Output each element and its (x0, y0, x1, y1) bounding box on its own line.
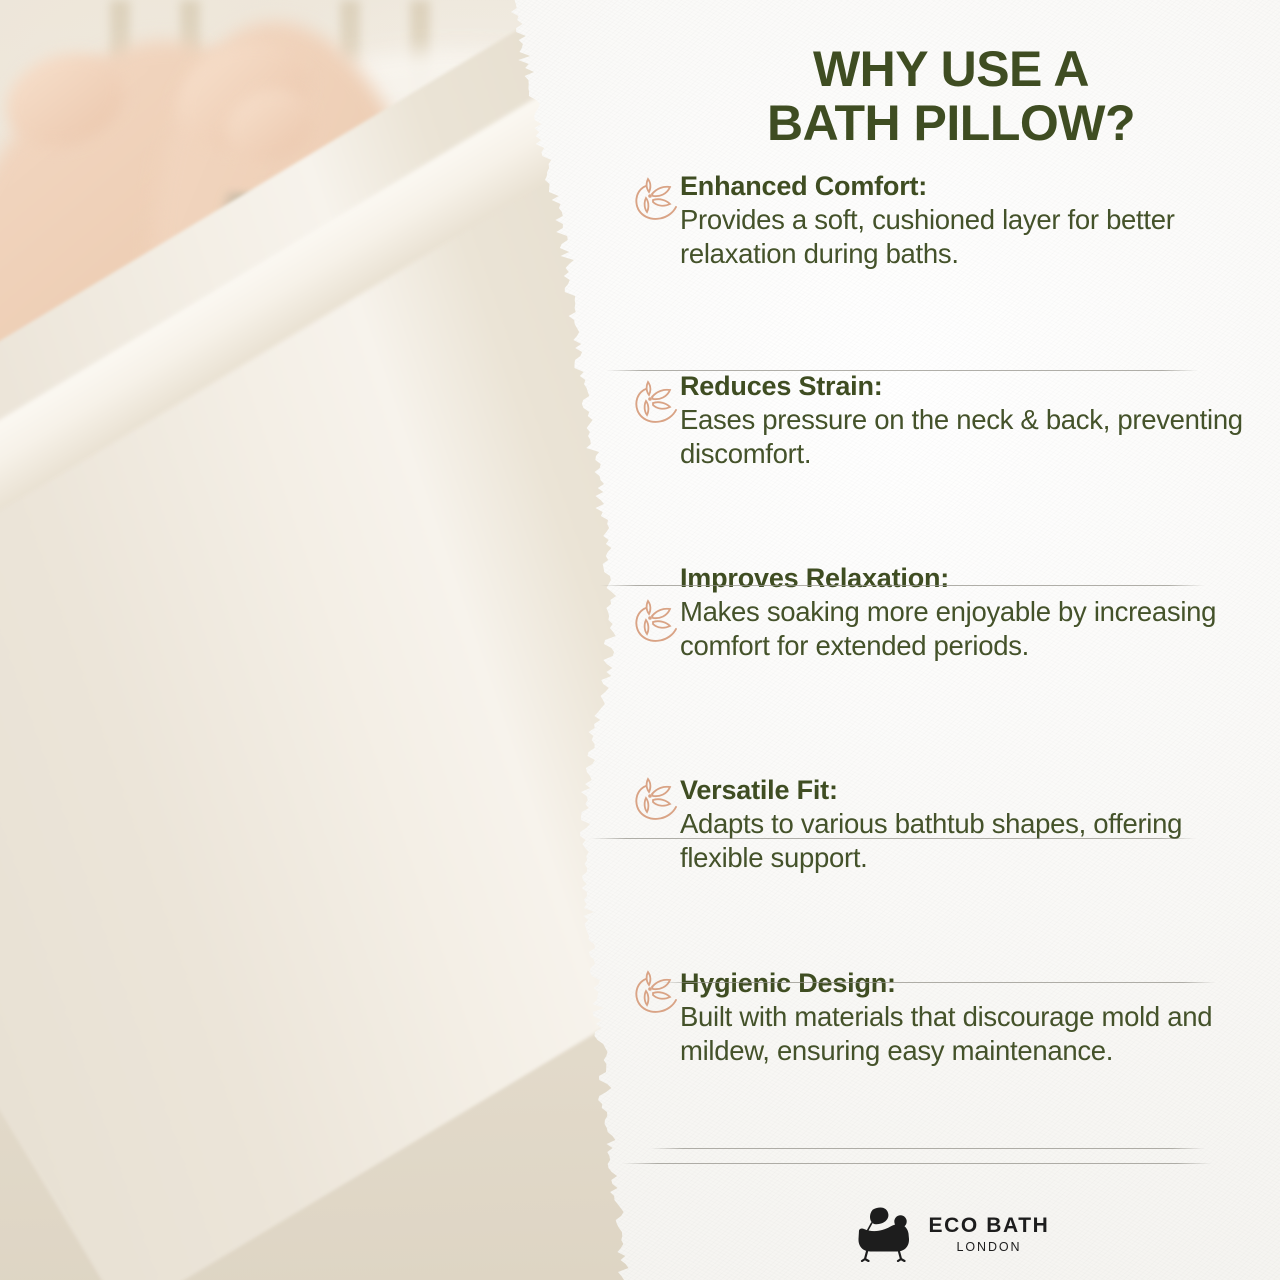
benefit-description: Eases pressure on the neck & back, preve… (680, 403, 1256, 471)
benefit-description: Adapts to various bathtub shapes, offeri… (680, 807, 1256, 875)
sprout-icon (630, 967, 682, 1019)
infographic-root: WHY USE A BATH PILLOW? Enhanced Comfort:… (0, 0, 1280, 1280)
benefit-description: Built with materials that discourage mol… (680, 1000, 1256, 1068)
section-divider (660, 982, 1216, 983)
sprout-bullet-icon (630, 596, 682, 648)
page-title: WHY USE A BATH PILLOW? (622, 42, 1280, 150)
benefit-title: Enhanced Comfort: (680, 170, 1256, 203)
brand-logo-text: ECO BATH LONDON (929, 1215, 1050, 1254)
sprout-icon (630, 174, 682, 226)
page-title-line-1: WHY USE A (813, 41, 1089, 97)
brand-logo: ECO BATH LONDON (622, 1206, 1280, 1262)
sprout-icon (630, 596, 682, 648)
benefit-description: Makes soaking more enjoyable by increasi… (680, 595, 1256, 663)
sprout-bullet-icon (630, 967, 682, 1019)
brand-subname: LONDON (957, 1241, 1022, 1254)
benefit-title: Improves Relaxation: (680, 562, 1256, 595)
page-title-line-2: BATH PILLOW? (648, 96, 1254, 150)
sprout-icon (630, 774, 682, 826)
benefit-item: Reduces Strain:Eases pressure on the nec… (622, 370, 1280, 471)
benefit-title: Reduces Strain: (680, 370, 1256, 403)
bathtub-leaf-icon (853, 1206, 915, 1262)
benefit-item: Enhanced Comfort:Provides a soft, cushio… (622, 170, 1280, 271)
benefits-content: WHY USE A BATH PILLOW? Enhanced Comfort:… (622, 0, 1280, 1280)
section-divider (590, 838, 1196, 839)
benefit-description: Provides a soft, cushioned layer for bet… (680, 203, 1256, 271)
sprout-icon (630, 377, 682, 429)
sprout-bullet-icon (630, 774, 682, 826)
benefit-title: Hygienic Design: (680, 967, 1256, 1000)
section-divider (600, 585, 1205, 586)
section-divider (622, 1163, 1212, 1164)
section-divider (606, 370, 1198, 371)
sprout-bullet-icon (630, 174, 682, 226)
benefit-item: Improves Relaxation:Makes soaking more e… (622, 562, 1280, 663)
benefit-title: Versatile Fit: (680, 774, 1256, 807)
section-divider (650, 1148, 1205, 1149)
benefit-item: Versatile Fit:Adapts to various bathtub … (622, 774, 1280, 875)
sprout-bullet-icon (630, 377, 682, 429)
brand-name: ECO BATH (929, 1215, 1050, 1236)
